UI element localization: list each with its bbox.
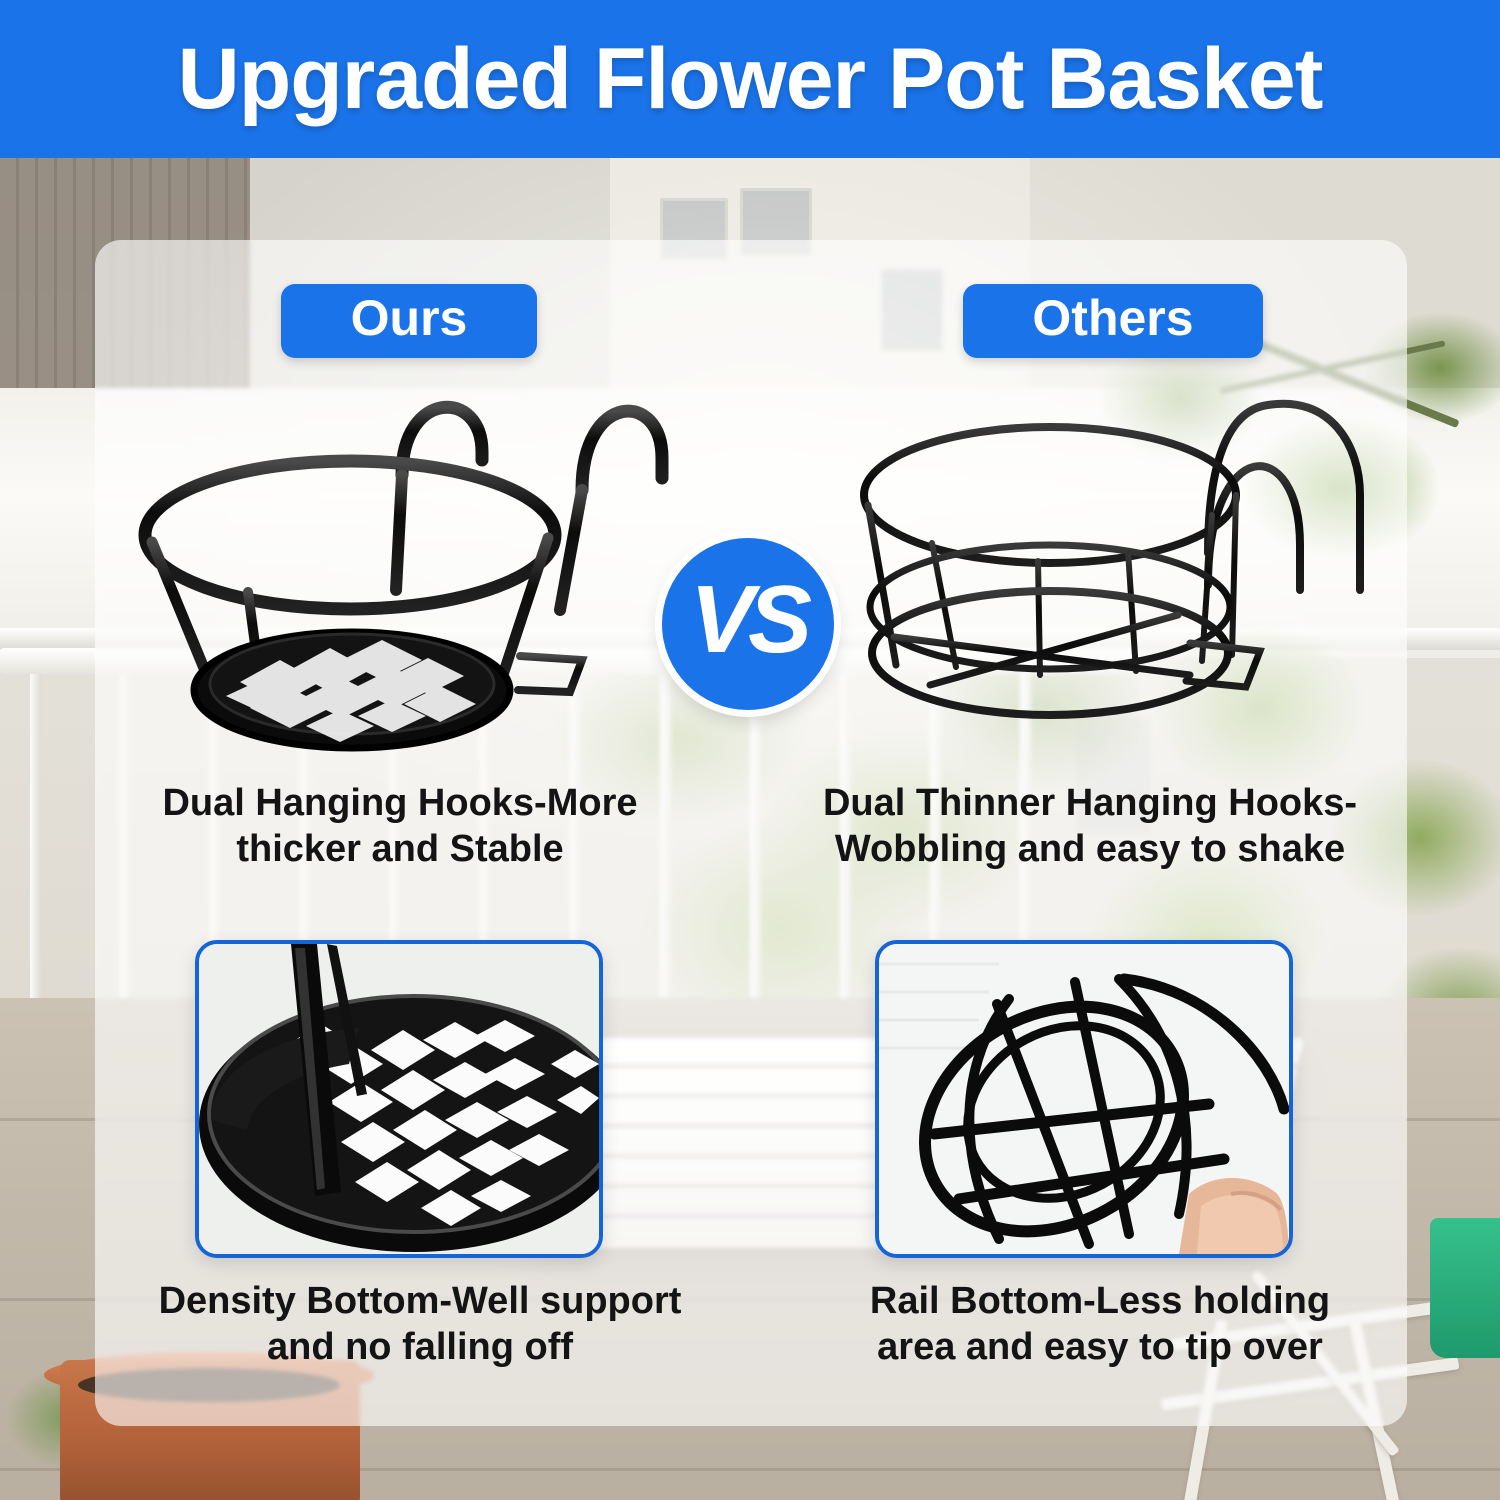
badge-ours: Ours	[281, 284, 537, 358]
page-title: Upgraded Flower Pot Basket	[178, 36, 1323, 122]
product-image-ours	[130, 360, 700, 770]
rail-bottom-closeup-image	[879, 944, 1289, 1254]
detail-panel-rail-bottom	[875, 940, 1293, 1258]
caption-others: Dual Thinner Hanging Hooks-Wobbling and …	[780, 780, 1400, 873]
vs-badge: VS	[662, 538, 834, 710]
caption-rail-bottom: Rail Bottom-Less holding area and easy t…	[830, 1278, 1370, 1500]
caption-density-bottom: Density Bottom-Well support and no falli…	[150, 1278, 690, 1371]
vs-label: VS	[690, 572, 806, 668]
product-image-others	[860, 375, 1405, 755]
caption-ours: Dual Hanging Hooks-More thicker and Stab…	[120, 780, 680, 873]
detail-panel-density-bottom	[195, 940, 603, 1258]
content-layer: Upgraded Flower Pot Basket Ours Others	[0, 0, 1500, 1500]
badge-others: Others	[963, 284, 1263, 358]
density-bottom-closeup-image	[199, 944, 599, 1254]
infographic-root: Upgraded Flower Pot Basket Ours Others	[0, 0, 1500, 1500]
header-banner: Upgraded Flower Pot Basket	[0, 0, 1500, 158]
badge-others-label: Others	[1032, 289, 1193, 347]
badge-ours-label: Ours	[351, 289, 468, 347]
